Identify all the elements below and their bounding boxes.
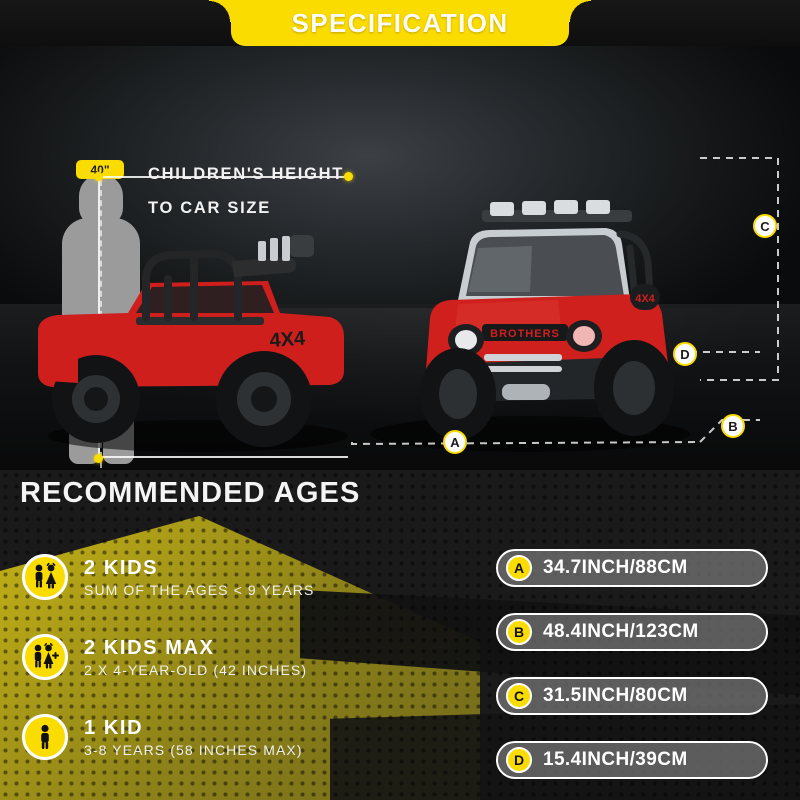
caption-line-2: TO CAR SIZE <box>148 199 271 218</box>
one-kid-icon <box>22 714 68 760</box>
age-row-title: 1 KID <box>84 717 303 740</box>
age-row-one-kid: 1 KID 3-8 YEARS (58 INCHES MAX) <box>22 708 452 766</box>
chip-value-a: 34.7INCH/88CM <box>543 557 688 579</box>
vehicle-side-view: 4X4 <box>18 221 358 456</box>
svg-text:BROTHERS: BROTHERS <box>490 328 560 340</box>
chip-value-b: 48.4INCH/123CM <box>543 621 699 643</box>
car-top-dot <box>344 172 353 181</box>
svg-text:4X4: 4X4 <box>635 293 655 305</box>
page-title: SPECIFICATION <box>291 8 508 39</box>
specification-infographic: SPECIFICATION 40" CHILDREN'S HEIGHT TO C… <box>0 0 800 800</box>
age-row-sub: SUM OF THE AGES < 9 YEARS <box>84 582 314 598</box>
header-tab: SPECIFICATION <box>231 0 569 46</box>
chip-letter-a: A <box>506 555 532 581</box>
age-row-sub: 3-8 YEARS (58 INCHES MAX) <box>84 742 303 758</box>
caption-line-1: CHILDREN'S HEIGHT <box>148 165 344 184</box>
product-photo-panel: 40" CHILDREN'S HEIGHT TO CAR SIZE <box>0 46 800 470</box>
chip-letter-c: C <box>506 683 532 709</box>
age-row-sub: 2 X 4-YEAR-OLD (42 INCHES) <box>84 662 307 678</box>
age-row-title: 2 KIDS MAX <box>84 637 307 660</box>
dimension-marker-a: A <box>443 430 467 454</box>
two-kids-max-icon <box>22 634 68 680</box>
vehicle-front-view: BROTHERS 4X4 <box>362 188 702 458</box>
age-row-title: 2 KIDS <box>84 557 314 580</box>
age-row-two-kids-max: 2 KIDS MAX 2 X 4-YEAR-OLD (42 INCHES) <box>22 628 452 686</box>
svg-text:4X4: 4X4 <box>269 327 307 351</box>
dimension-chip-c: C 31.5INCH/80CM <box>496 677 768 715</box>
dimension-marker-c: C <box>753 214 777 238</box>
header-bar: SPECIFICATION <box>0 0 800 52</box>
age-row-two-kids: 2 KIDS SUM OF THE AGES < 9 YEARS <box>22 548 452 606</box>
dimension-marker-d: D <box>673 342 697 366</box>
chip-letter-d: D <box>506 747 532 773</box>
bracket-dot-top <box>94 172 103 181</box>
chip-value-c: 31.5INCH/80CM <box>543 685 688 707</box>
dimension-chip-b: B 48.4INCH/123CM <box>496 613 768 651</box>
chip-value-d: 15.4INCH/39CM <box>543 749 688 771</box>
chip-letter-b: B <box>506 619 532 645</box>
dimension-chip-a: A 34.7INCH/88CM <box>496 549 768 587</box>
dimension-chip-d: D 15.4INCH/39CM <box>496 741 768 779</box>
dimension-marker-b: B <box>721 414 745 438</box>
two-kids-icon <box>22 554 68 600</box>
ages-section-title: RECOMMENDED AGES <box>20 477 360 510</box>
